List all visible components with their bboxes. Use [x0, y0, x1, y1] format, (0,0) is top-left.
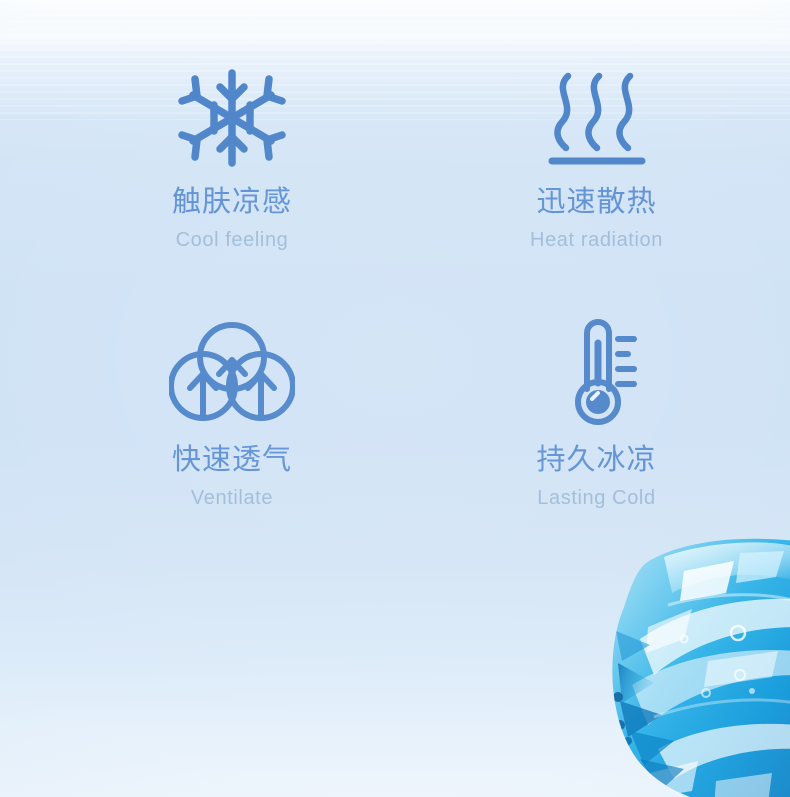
feature-title-en: Lasting Cold — [537, 487, 655, 510]
feature-title-cn: 快速透气 — [172, 444, 292, 477]
feature-grid: 触肤凉感 Cool feeling 迅速散热 Heat radiation — [0, 62, 790, 566]
thermometer-icon — [554, 314, 640, 432]
feature-title-en: Heat radiation — [530, 229, 663, 252]
feature-title-cn: 持久冰凉 — [536, 444, 656, 477]
feature-item-heat-radiation: 迅速散热 Heat radiation — [395, 62, 790, 314]
feature-title-en: Cool feeling — [176, 229, 289, 252]
feature-item-lasting-cold: 持久冰凉 Lasting Cold — [395, 314, 790, 566]
feature-item-cool-feeling: 触肤凉感 Cool feeling — [0, 62, 395, 314]
snowflake-icon — [177, 62, 287, 174]
feature-title-cn: 触肤凉感 — [172, 186, 292, 219]
ventilation-circles-icon — [169, 314, 295, 432]
heat-waves-icon — [545, 62, 649, 174]
feature-title-cn: 迅速散热 — [536, 186, 656, 219]
ice-cube-photo — [588, 535, 790, 797]
background-highlight-band — [0, 22, 790, 52]
feature-item-ventilate: 快速透气 Ventilate — [0, 314, 395, 566]
feature-title-en: Ventilate — [191, 487, 273, 510]
promo-banner: 触肤凉感 Cool feeling 迅速散热 Heat radiation — [0, 0, 790, 797]
